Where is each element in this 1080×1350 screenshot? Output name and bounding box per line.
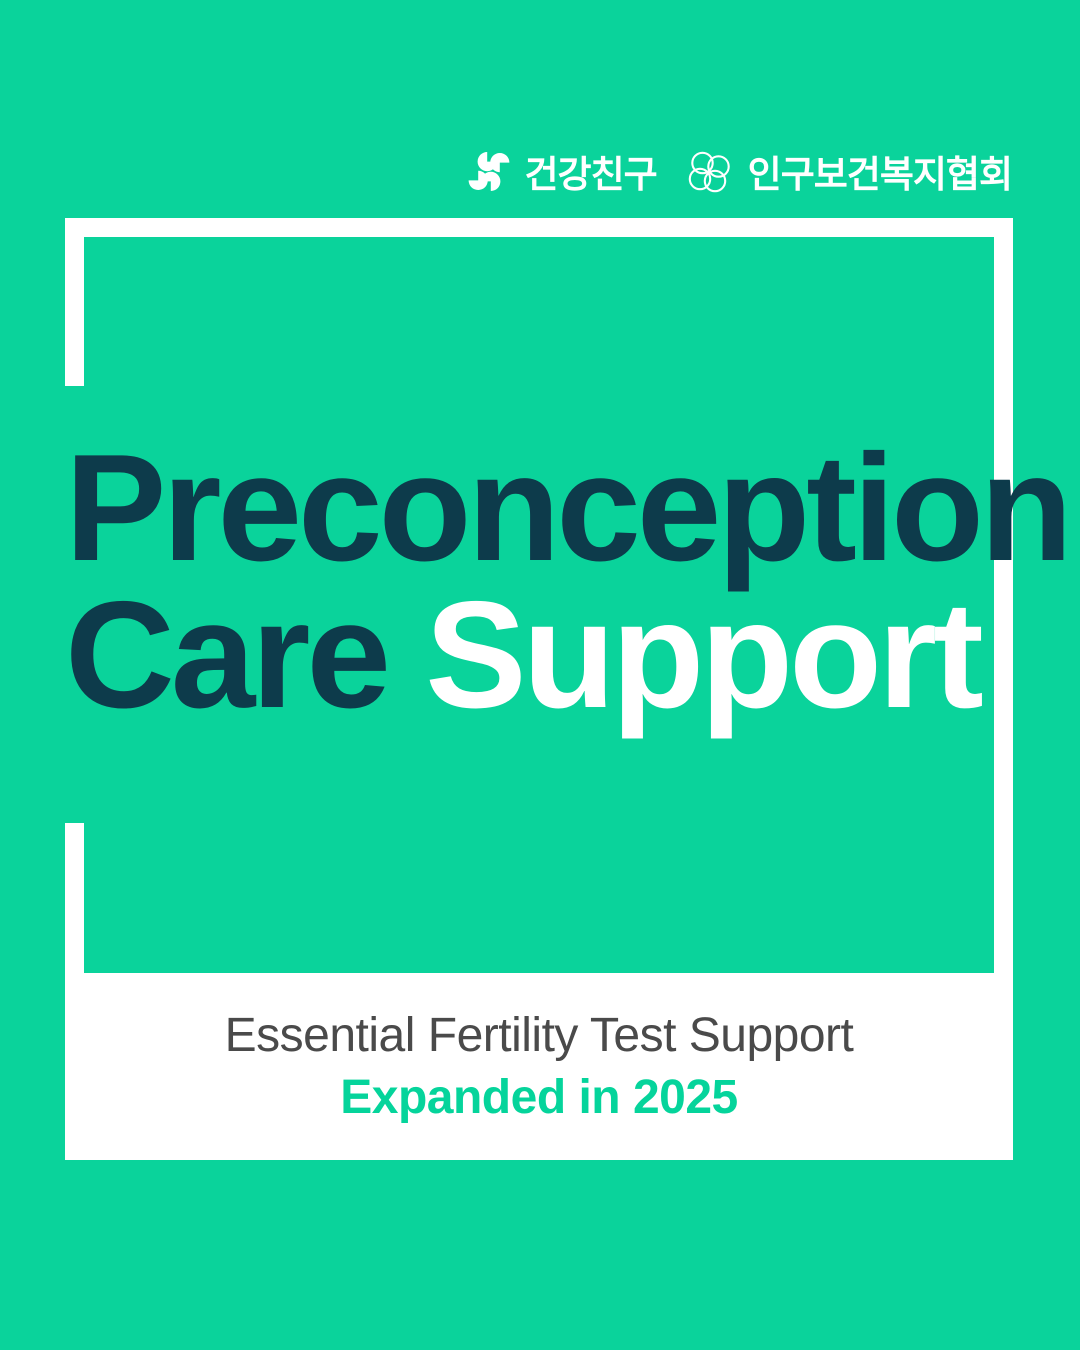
subtitle-panel: Essential Fertility Test Support Expande… bbox=[65, 973, 1013, 1160]
poster-canvas: 건강친구 인구보건복지협회 Preconception Care Supp bbox=[0, 0, 1080, 1350]
pinwheel-health-icon bbox=[466, 150, 512, 198]
subtitle-line-2: Expanded in 2025 bbox=[340, 1070, 738, 1125]
logo-label-ppfk: 인구보건복지협회 bbox=[748, 156, 1012, 193]
headline-line-1: Preconception bbox=[65, 435, 965, 582]
logo-ppfk: 인구보건복지협회 bbox=[687, 150, 1012, 198]
overlapping-circles-icon bbox=[687, 150, 735, 198]
frame-left-top-bar bbox=[65, 218, 84, 386]
headline-word-support bbox=[387, 570, 425, 740]
logo-geongangchingu: 건강친구 bbox=[466, 150, 657, 198]
headline-line-2: Care Support bbox=[65, 582, 965, 729]
frame-top-bar bbox=[65, 218, 1013, 237]
headline-word-support-text: Support bbox=[425, 570, 980, 740]
frame-right-bar bbox=[994, 218, 1013, 973]
page-title: Preconception Care Support bbox=[65, 435, 965, 730]
headline-word-care: Care bbox=[65, 570, 387, 740]
logo-bar: 건강친구 인구보건복지협회 bbox=[0, 150, 1080, 198]
frame-left-bottom-bar bbox=[65, 823, 84, 973]
logo-label-geongangchingu: 건강친구 bbox=[525, 156, 657, 193]
subtitle-line-1: Essential Fertility Test Support bbox=[225, 1008, 854, 1063]
